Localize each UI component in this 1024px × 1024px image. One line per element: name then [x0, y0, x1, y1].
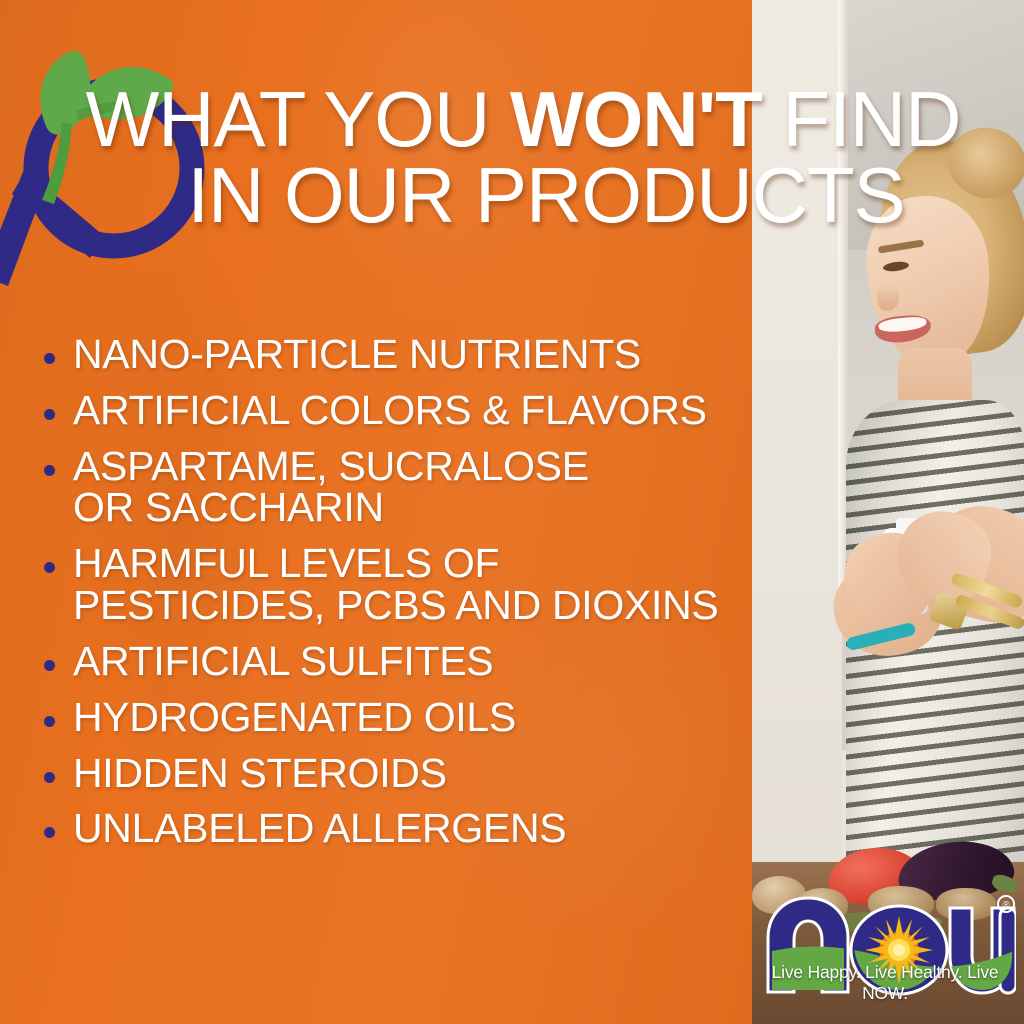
list-item: NANO-PARTICLE NUTRIENTS [44, 334, 744, 376]
list-item-label: ARTIFICIAL SULFITES [73, 641, 493, 683]
bullet-dot-icon [44, 827, 55, 838]
bullet-dot-icon [44, 716, 55, 727]
headline-line-1: WHAT YOU WON'T FIND [0, 82, 1024, 158]
bullet-dot-icon [44, 562, 55, 573]
list-item: ARTIFICIAL SULFITES [44, 641, 744, 683]
bullet-dot-icon [44, 353, 55, 364]
poster-canvas: WHAT YOU WON'T FIND IN OUR PRODUCTS NANO… [0, 0, 1024, 1024]
photo-nose [877, 285, 899, 311]
headline-emphasis: WON'T [510, 75, 762, 163]
list-item: ARTIFICIAL COLORS & FLAVORS [44, 390, 744, 432]
list-item: HARMFUL LEVELS OF PESTICIDES, PCBS AND D… [44, 543, 744, 627]
brand-tagline: Live Happy. Live Healthy. Live NOW. [754, 962, 1016, 1004]
list-item: HIDDEN STEROIDS [44, 753, 744, 795]
list-item-label: HYDROGENATED OILS [73, 697, 516, 739]
page-title: WHAT YOU WON'T FIND IN OUR PRODUCTS [0, 82, 1024, 233]
list-item-label: HARMFUL LEVELS OF PESTICIDES, PCBS AND D… [73, 543, 718, 627]
list-item: UNLABELED ALLERGENS [44, 808, 744, 850]
registered-mark-glyph: ® [1002, 900, 1010, 911]
list-item-label: ASPARTAME, SUCRALOSE OR SACCHARIN [73, 446, 589, 530]
headline-post: FIND [762, 75, 961, 163]
bullet-dot-icon [44, 772, 55, 783]
registered-trademark-icon: ® [998, 896, 1014, 912]
list-item-label: UNLABELED ALLERGENS [73, 808, 566, 850]
exclusion-list: NANO-PARTICLE NUTRIENTS ARTIFICIAL COLOR… [44, 334, 744, 864]
bullet-dot-icon [44, 465, 55, 476]
list-item-label: ARTIFICIAL COLORS & FLAVORS [73, 390, 707, 432]
bullet-dot-icon [44, 660, 55, 671]
bullet-dot-icon [44, 409, 55, 420]
list-item: HYDROGENATED OILS [44, 697, 744, 739]
list-item: ASPARTAME, SUCRALOSE OR SACCHARIN [44, 446, 744, 530]
photo-teeth [878, 316, 927, 334]
list-item-label: NANO-PARTICLE NUTRIENTS [73, 334, 641, 376]
headline-pre: WHAT YOU [86, 75, 510, 163]
list-item-label: HIDDEN STEROIDS [73, 753, 447, 795]
headline-line-2: IN OUR PRODUCTS [0, 158, 1024, 234]
